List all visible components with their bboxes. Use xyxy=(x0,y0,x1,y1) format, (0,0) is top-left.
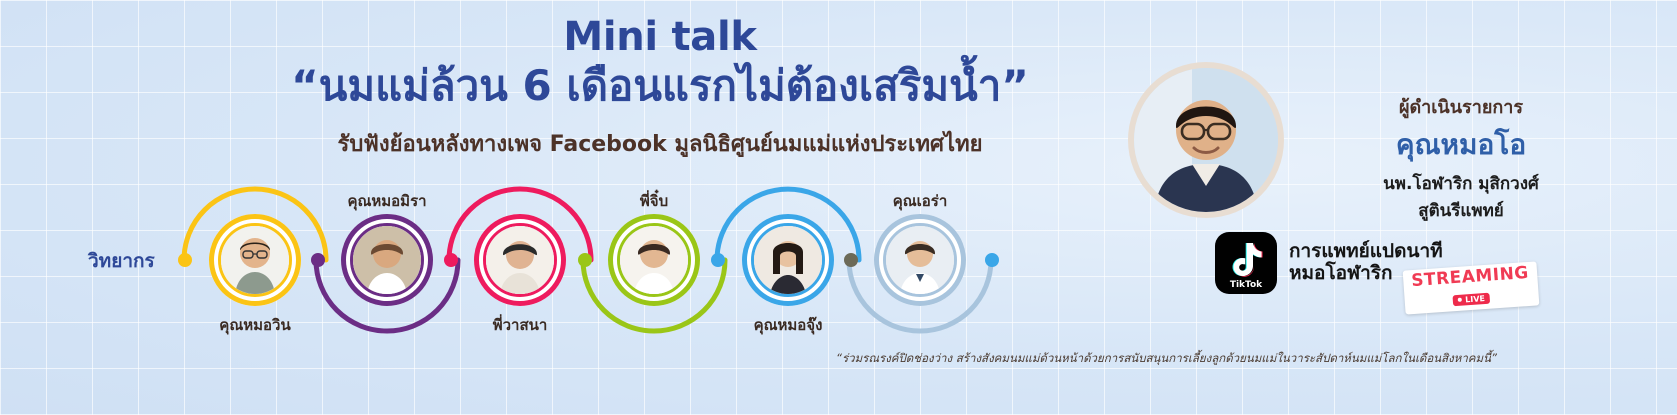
speaker-name-6: คุณเอร่า xyxy=(893,189,948,213)
webinar-banner: Mini talk “นมแม่ล้วน 6 เดือนแรกไม่ต้องเส… xyxy=(0,0,1677,415)
streaming-label: STREAMING xyxy=(1411,265,1530,290)
timeline-dot xyxy=(711,253,725,267)
title-quote: “นมแม่ล้วน 6 เดือนแรกไม่ต้องเสริมน้ำ” xyxy=(230,62,1090,110)
footer-note: “ร่วมรณรงค์ปิดช่องว่าง สร้างสังคมนมแม่ด้… xyxy=(836,350,1536,368)
speaker-avatar-6[interactable] xyxy=(874,214,966,306)
live-badge: LIVE xyxy=(1453,292,1490,306)
speaker-timeline: คุณหมอวิน คุณหมอมิรา พี่วาสนา xyxy=(0,180,1060,350)
senior-woman-avatar xyxy=(486,226,554,294)
host-doctor-avatar xyxy=(1134,68,1278,212)
host-role: ผู้ดำเนินรายการ xyxy=(1296,92,1626,121)
timeline-dot xyxy=(985,253,999,267)
tiktok-line-1: การแพทย์แปดนาที xyxy=(1289,241,1443,263)
timeline-dot xyxy=(844,253,858,267)
speaker-avatar-2[interactable] xyxy=(341,214,433,306)
host-specialty: สูตินรีแพทย์ xyxy=(1296,197,1626,224)
tiktok-note-glyph xyxy=(1228,240,1264,278)
timeline-dot xyxy=(578,253,592,267)
host-avatar xyxy=(1128,62,1284,218)
nurse-avatar xyxy=(886,226,954,294)
live-label: LIVE xyxy=(1465,294,1485,304)
timeline-dot xyxy=(178,253,192,267)
speaker-avatar-4[interactable] xyxy=(608,214,700,306)
host-info: ผู้ดำเนินรายการ คุณหมอโอ นพ.โอฬาริก มุสิ… xyxy=(1296,92,1626,224)
tiktok-wordmark: TikTok xyxy=(1215,280,1277,290)
headline-block: Mini talk “นมแม่ล้วน 6 เดือนแรกไม่ต้องเส… xyxy=(230,16,1090,161)
status-badge: STREAMING LIVE xyxy=(1403,261,1539,314)
page-title: Mini talk xyxy=(230,16,1090,58)
subtitle: รับฟังย้อนหลังทางเพจ Facebook มูลนิธิศูน… xyxy=(230,126,1090,161)
male-glasses-avatar xyxy=(221,226,289,294)
speaker-name-5: คุณหมอจุ๊ง xyxy=(754,313,823,337)
live-dot-icon xyxy=(1458,298,1462,302)
short-hair-woman-avatar xyxy=(620,226,688,294)
female-doctor-avatar xyxy=(353,226,421,294)
timeline-dot xyxy=(444,253,458,267)
speaker-name-4: พี่จิ๋บ xyxy=(640,189,668,213)
host-nickname: คุณหมอโอ xyxy=(1296,123,1626,167)
long-hair-woman-avatar xyxy=(754,226,822,294)
speaker-name-3: พี่วาสนา xyxy=(493,313,548,337)
speaker-avatar-5[interactable] xyxy=(742,214,834,306)
speaker-avatar-1[interactable] xyxy=(209,214,301,306)
speaker-avatar-3[interactable] xyxy=(474,214,566,306)
tiktok-icon[interactable]: TikTok xyxy=(1215,232,1277,294)
host-fullname: นพ.โอฬาริก มุสิกวงศ์ xyxy=(1296,170,1626,197)
speaker-name-2: คุณหมอมิรา xyxy=(347,189,426,213)
speaker-name-1: คุณหมอวิน xyxy=(219,313,290,337)
timeline-dot xyxy=(311,253,325,267)
